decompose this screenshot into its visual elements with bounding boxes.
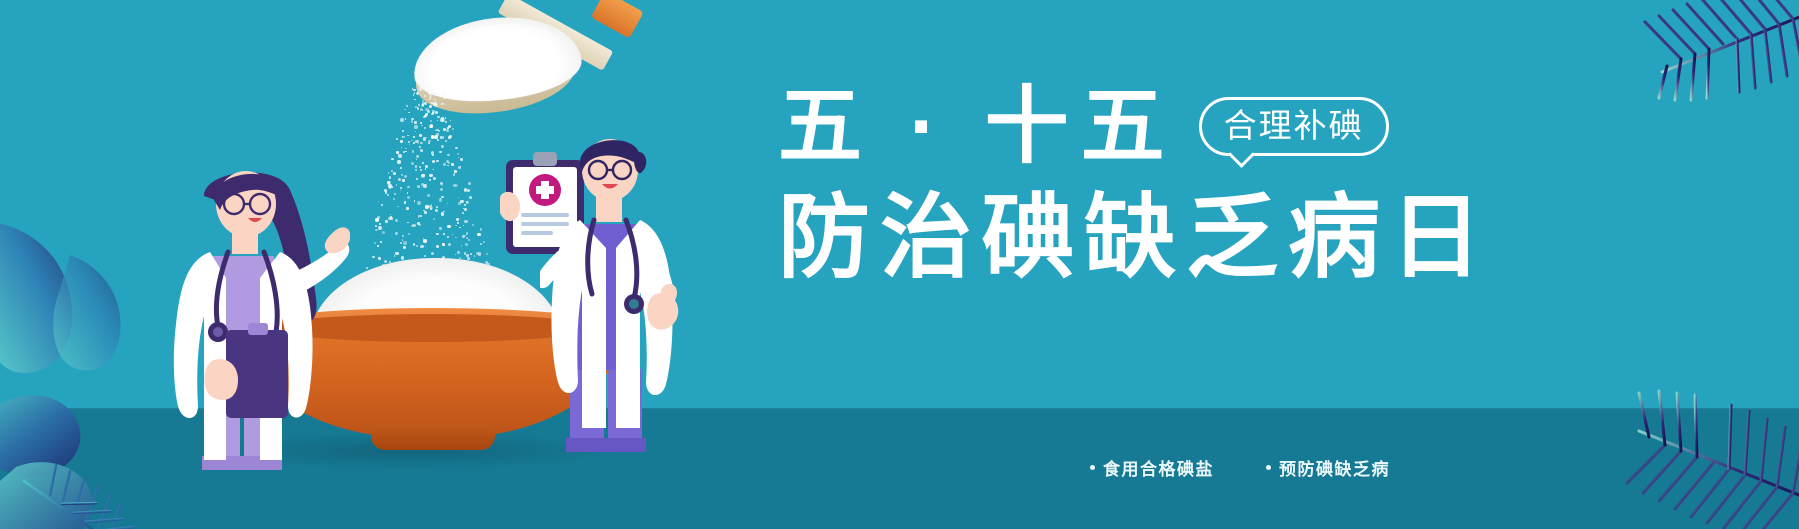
iodine-deficiency-day-banner: 五 · 十五 合理补碘 防治碘缺乏病日 食用合格碘盐 预防碘缺乏病 (0, 0, 1799, 529)
male-doctor-icon (540, 128, 685, 458)
bowl-foot (371, 424, 495, 450)
headline-line-1: 五 · 十五 合理补碘 (778, 78, 1418, 174)
status-badge: 合理补碘 (1199, 97, 1389, 156)
badge-label: 合理补碘 (1224, 109, 1364, 142)
page-title: 防治碘缺乏病日 (778, 190, 1418, 287)
tagline-label-1: 食用合格碘盐 (1103, 455, 1214, 480)
tagline-group: 食用合格碘盐 预防碘缺乏病 (1090, 455, 1390, 480)
tagline-item-2: 预防碘缺乏病 (1266, 455, 1390, 480)
date-text: 五 · 十五 (778, 84, 1177, 168)
headline-block: 五 · 十五 合理补碘 防治碘缺乏病日 (778, 78, 1418, 287)
tagline-item-1: 食用合格碘盐 (1090, 455, 1214, 480)
tagline-label-2: 预防碘缺乏病 (1279, 455, 1390, 480)
female-doctor-icon (140, 160, 350, 480)
bullet-dot-icon (1090, 465, 1095, 470)
bullet-dot-icon (1266, 465, 1271, 470)
